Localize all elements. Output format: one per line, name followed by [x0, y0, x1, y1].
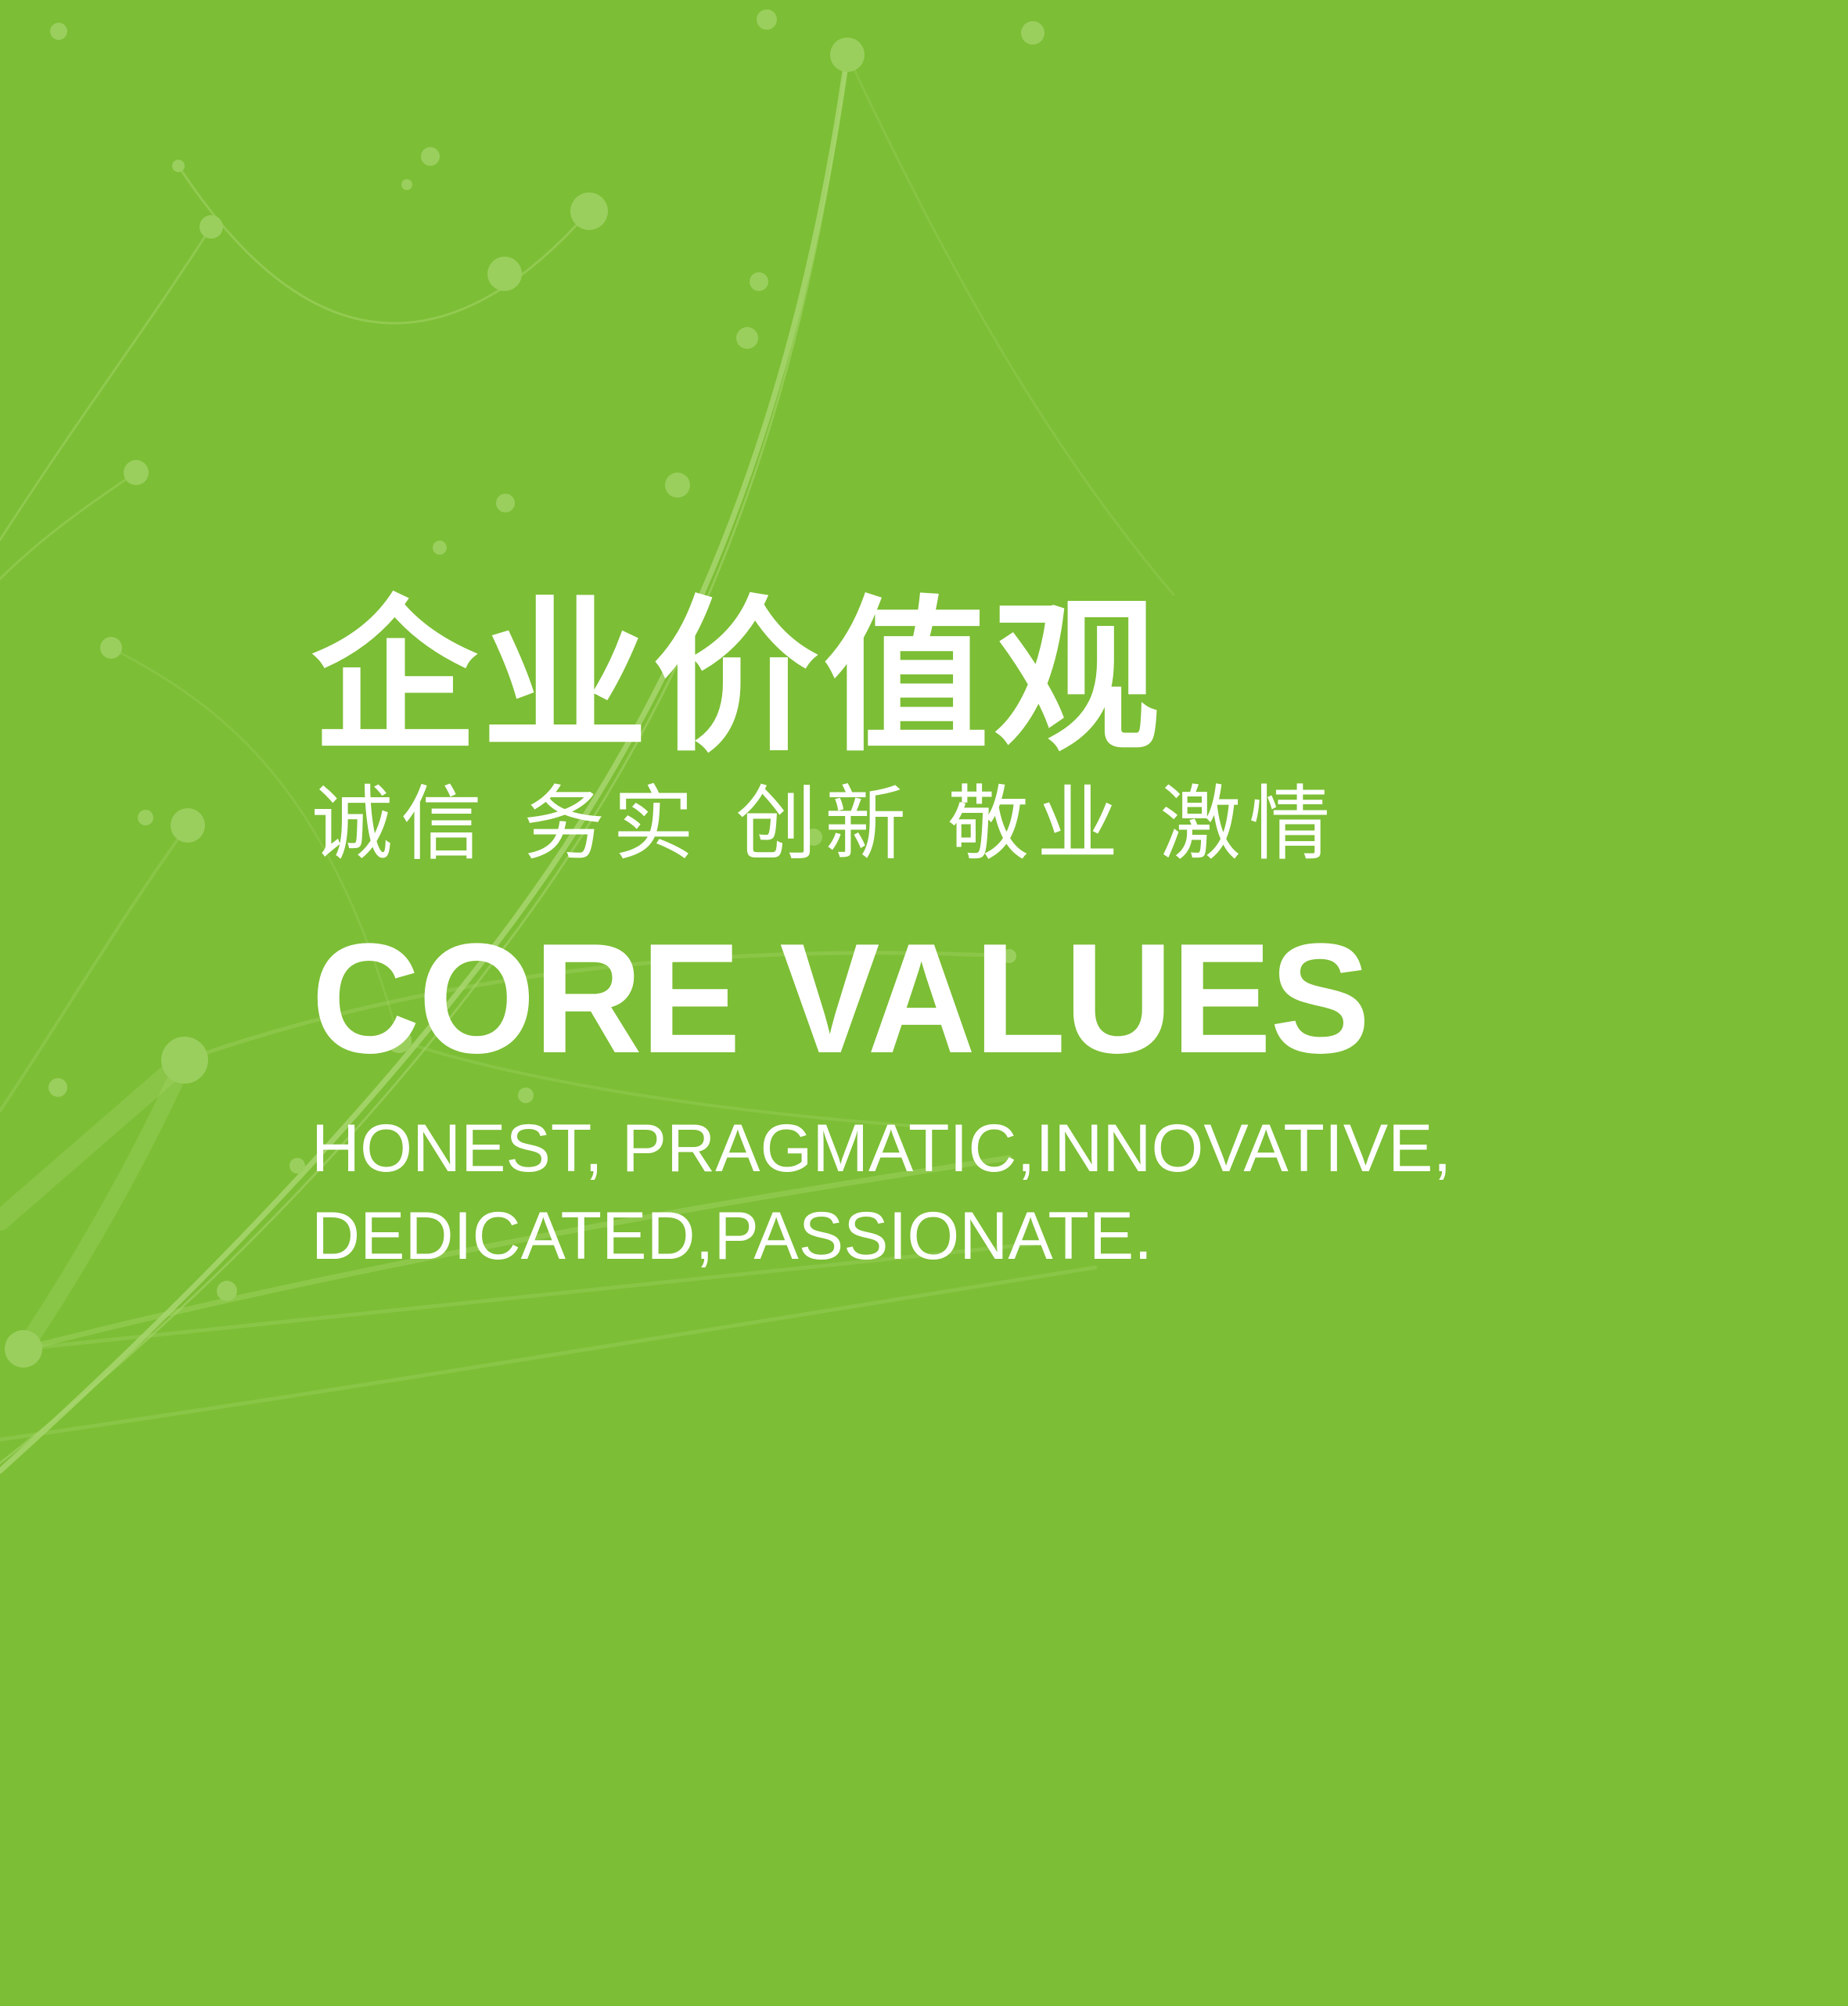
network-node — [433, 541, 447, 555]
network-node — [171, 808, 205, 843]
network-node — [570, 192, 608, 230]
network-node — [138, 810, 153, 825]
network-node — [665, 473, 690, 498]
page-title-chinese: 企业价值观 — [311, 595, 1720, 760]
network-node — [50, 23, 67, 40]
core-values-poster: 企业价值观 诚信 务实 创新 敬业 激情 CORE VALUES HONEST,… — [0, 0, 1848, 2006]
body-english: HONEST, PRAGMATIC,INNOVATIVE, DEDICATED,… — [311, 1105, 1720, 1281]
network-node — [5, 1330, 42, 1368]
network-node — [217, 1281, 237, 1301]
network-node — [49, 1078, 67, 1097]
network-node — [200, 215, 223, 239]
network-node — [830, 38, 865, 72]
body-english-line-1: HONEST, PRAGMATIC,INNOVATIVE, — [311, 1105, 1720, 1193]
network-node — [757, 9, 777, 30]
subtitle-chinese: 诚信 务实 创新 敬业 激情 — [311, 775, 1720, 874]
network-node — [401, 179, 412, 190]
network-node — [496, 494, 515, 512]
network-node — [421, 147, 440, 166]
network-node — [736, 327, 758, 349]
network-node — [172, 160, 185, 172]
body-english-line-2: DEDICATED,PASSIONATE. — [311, 1193, 1720, 1281]
poster-text-block: 企业价值观 诚信 务实 创新 敬业 激情 CORE VALUES HONEST,… — [311, 595, 1720, 1280]
network-node — [1021, 21, 1044, 45]
network-node — [124, 460, 149, 485]
network-node — [289, 1158, 305, 1174]
page-title-english: CORE VALUES — [311, 921, 1663, 1077]
network-node — [161, 1037, 208, 1084]
network-node — [750, 272, 768, 291]
network-node — [100, 637, 122, 659]
network-node — [487, 257, 522, 291]
